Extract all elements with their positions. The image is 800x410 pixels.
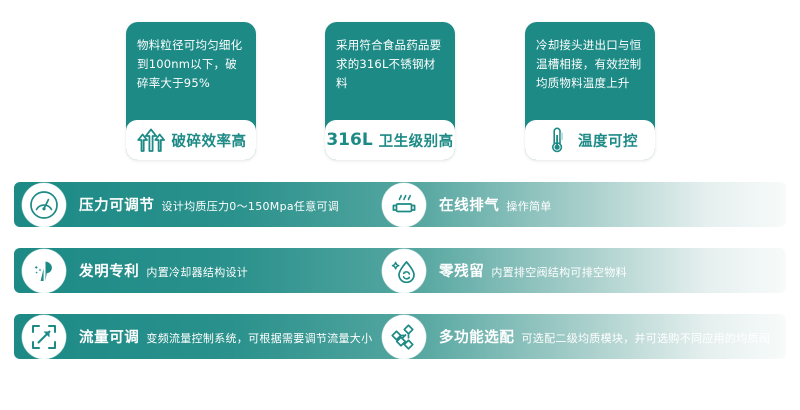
card-3-footer-label: 温度可控 bbox=[578, 130, 638, 151]
feature-patent-desc: 内置冷却器结构设计 bbox=[146, 264, 248, 280]
gauge-icon bbox=[22, 183, 66, 227]
feature-exhaust-title: 在线排气 bbox=[439, 194, 499, 215]
expand-arrow-icon bbox=[22, 315, 66, 359]
card-2-footer: 316L 卫生级别高 bbox=[325, 120, 455, 160]
feature-exhaust[interactable]: 在线排气 操作简单 bbox=[382, 183, 552, 227]
card-1-body: 物料粒径可均匀细化到100nm以下，破碎率大于95% bbox=[126, 22, 256, 108]
feature-patent[interactable]: 发明专利 内置冷却器结构设计 bbox=[22, 249, 248, 293]
feature-flow[interactable]: 流量可调 变频流量控制系统，可根据需要调节流量大小 bbox=[22, 315, 372, 359]
card-2-footer-badge: 316L bbox=[326, 130, 372, 150]
feature-bar-3: 流量可调 变频流量控制系统，可根据需要调节流量大小 bbox=[14, 314, 786, 359]
card-2-footer-label: 卫生级别高 bbox=[379, 130, 454, 151]
feature-zero-residue[interactable]: 零残留 内置排空阀结构可排空物料 bbox=[382, 249, 627, 293]
feature-bars: 压力可调节 设计均质压力0～150Mpa任意可调 bbox=[0, 182, 800, 380]
feature-pressure[interactable]: 压力可调节 设计均质压力0～150Mpa任意可调 bbox=[22, 183, 339, 227]
exhaust-icon bbox=[382, 183, 426, 227]
card-1-footer-label: 破碎效率高 bbox=[172, 130, 247, 151]
feature-flow-desc: 变频流量控制系统，可根据需要调节流量大小 bbox=[146, 330, 372, 346]
feature-zero-residue-desc: 内置排空阀结构可排空物料 bbox=[491, 264, 627, 280]
card-3-body: 冷却接头进出口与恒温槽相接，有效控制均质物料温度上升 bbox=[525, 22, 655, 108]
feature-multifunction[interactable]: 多功能选配 可选配二级均质模块，并可选购不同应用的均质阀 bbox=[382, 315, 770, 359]
patent-p-icon bbox=[22, 249, 66, 293]
feature-infographic: 物料粒径可均匀细化到100nm以下，破碎率大于95% 破碎效率高 采用符合食品药… bbox=[0, 0, 800, 410]
feature-card-3[interactable]: 冷却接头进出口与恒温槽相接，有效控制均质物料温度上升 温度可控 bbox=[525, 22, 655, 160]
feature-multifunction-desc: 可选配二级均质模块，并可选购不同应用的均质阀 bbox=[522, 330, 771, 346]
feature-pressure-title: 压力可调节 bbox=[79, 194, 155, 215]
three-up-arrows-icon bbox=[136, 126, 166, 154]
feature-card-2[interactable]: 采用符合食品药品要求的316L不锈钢材料 316L 卫生级别高 bbox=[325, 22, 455, 160]
feature-multifunction-title: 多功能选配 bbox=[439, 326, 515, 347]
feature-card-1[interactable]: 物料粒径可均匀细化到100nm以下，破碎率大于95% 破碎效率高 bbox=[126, 22, 256, 160]
thermometer-icon bbox=[542, 126, 572, 154]
feature-bar-1: 压力可调节 设计均质压力0～150Mpa任意可调 bbox=[14, 182, 786, 227]
water-drop-recycle-icon bbox=[382, 249, 426, 293]
card-1-footer: 破碎效率高 bbox=[126, 120, 256, 160]
card-3-footer: 温度可控 bbox=[525, 120, 655, 160]
feature-bar-2: 发明专利 内置冷却器结构设计 bbox=[14, 248, 786, 293]
cards-row: 物料粒径可均匀细化到100nm以下，破碎率大于95% 破碎效率高 采用符合食品药… bbox=[0, 0, 800, 172]
modular-network-icon bbox=[382, 315, 426, 359]
feature-flow-title: 流量可调 bbox=[79, 326, 139, 347]
card-2-body: 采用符合食品药品要求的316L不锈钢材料 bbox=[325, 22, 455, 108]
feature-patent-title: 发明专利 bbox=[79, 260, 139, 281]
feature-exhaust-desc: 操作简单 bbox=[506, 198, 551, 214]
feature-zero-residue-title: 零残留 bbox=[439, 260, 484, 281]
feature-pressure-desc: 设计均质压力0～150Mpa任意可调 bbox=[162, 198, 340, 214]
